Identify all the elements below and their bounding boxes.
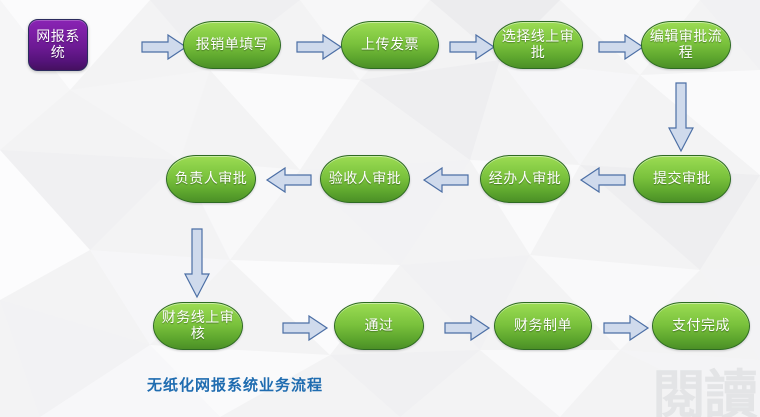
node-label: 财务线上审核 [154,310,242,342]
node-label: 选择线上审批 [494,29,582,61]
node-tijiao-shenpi[interactable]: 提交审批 [633,155,731,203]
node-label: 财务制单 [510,318,576,334]
arrow-down-icon [668,82,694,152]
arrow-right-icon [603,315,649,341]
node-label: 提交审批 [649,171,715,187]
node-tongguo[interactable]: 通过 [334,302,424,350]
node-label: 网报系统 [29,29,87,61]
node-yanshouren-shenpi[interactable]: 验收人审批 [320,155,410,203]
arrow-right-icon [141,34,187,60]
arrow-right-icon [282,315,328,341]
node-wangbao-xitong[interactable]: 网报系统 [28,19,88,71]
node-label: 上传发票 [357,37,423,53]
arrow-left-icon [580,167,626,193]
watermark-text: 閱讀 [652,369,756,417]
node-label: 负责人审批 [171,171,252,187]
arrow-right-icon [598,34,644,60]
node-label: 经办人审批 [485,171,566,187]
arrow-down-icon [184,228,210,298]
node-label: 支付完成 [668,318,734,334]
node-label: 验收人审批 [325,171,406,187]
node-label: 报销单填写 [192,37,273,53]
arrow-right-icon [449,34,495,60]
diagram-caption: 无纸化网报系统业务流程 [0,374,470,395]
node-jingbanren-shenpi[interactable]: 经办人审批 [480,155,570,203]
node-label: 编辑审批流程 [642,29,730,61]
node-caiwu-xianshang-shenhe[interactable]: 财务线上审核 [153,302,243,350]
arrow-left-icon [266,167,312,193]
node-baoxiaodan-tianxie[interactable]: 报销单填写 [183,21,281,69]
node-xuanze-xianshang-shenpi[interactable]: 选择线上审批 [493,21,583,69]
flowchart-canvas: 閱讀 网报系统 报销单填写 上传发票 选择线上审批 编辑审批流程 提交审批 经办… [0,0,760,417]
arrow-left-icon [423,167,469,193]
node-bianji-shenpi-liucheng[interactable]: 编辑审批流程 [641,21,731,69]
node-label: 通过 [361,318,398,334]
node-shangchuan-fapiao[interactable]: 上传发票 [341,21,439,69]
node-fuzeren-shenpi[interactable]: 负责人审批 [166,155,256,203]
node-zhifu-wancheng[interactable]: 支付完成 [652,302,750,350]
arrow-right-icon [444,315,490,341]
arrow-right-icon [296,34,342,60]
node-caiwu-zhidan[interactable]: 财务制单 [494,302,592,350]
